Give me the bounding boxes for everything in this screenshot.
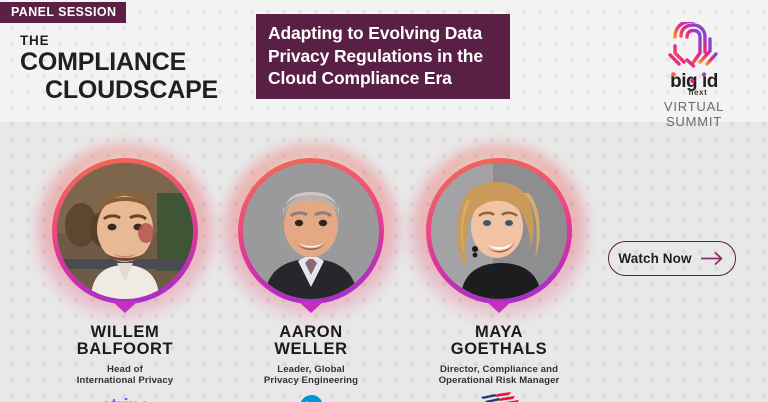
speaker-title-line-1: Director, Compliance and xyxy=(404,364,594,375)
bigid-caption: VIRTUAL SUMMIT xyxy=(634,99,754,129)
panel-session-badge: PANEL SESSION xyxy=(0,2,126,23)
speaker-name-line-1: MAYA xyxy=(404,324,594,341)
boa-flag-icon xyxy=(475,392,523,402)
speaker-company-logo: BANK OF AMERICA xyxy=(404,393,594,402)
stripe-logo: stripe xyxy=(101,397,149,402)
bigid-fingerprint-icon xyxy=(634,22,754,70)
bank-of-america-logo: BANK OF AMERICA xyxy=(472,392,527,402)
speaker-name-line-1: AARON xyxy=(216,324,406,341)
svg-text:next: next xyxy=(689,88,708,97)
speaker-name: AARON WELLER xyxy=(216,324,406,358)
speaker-title: Director, Compliance and Operational Ris… xyxy=(404,364,594,386)
bigid-wordmark: big id next xyxy=(634,71,754,97)
speaker-title: Leader, Global Privacy Engineering xyxy=(216,364,406,386)
speaker-avatar xyxy=(426,158,572,304)
series-title-lockup: THE COMPLIANCE CLOUDSCAPE xyxy=(20,33,218,105)
speaker-company-logo: stripe xyxy=(30,393,220,402)
lockup-line-1: COMPLIANCE xyxy=(20,48,218,76)
speaker-avatar xyxy=(238,158,384,304)
speaker-name: MAYA GOETHALS xyxy=(404,324,594,358)
lockup-line-2: CLOUDSCAPE xyxy=(45,76,218,105)
speaker-title-line-2: Operational Risk Manager xyxy=(404,375,594,386)
session-headline: Adapting to Evolving Data Privacy Regula… xyxy=(256,14,510,99)
speaker-title-line-2: International Privacy xyxy=(30,375,220,386)
avatar-pointer xyxy=(112,301,138,313)
speaker-photo xyxy=(57,163,193,299)
speaker-title-line-2: Privacy Engineering xyxy=(216,375,406,386)
bigid-logo: big id next VIRTUAL SUMMIT xyxy=(634,22,754,129)
hp-logo: hp xyxy=(300,395,323,402)
watch-now-label: Watch Now xyxy=(618,251,691,266)
watch-now-button[interactable]: Watch Now xyxy=(608,241,736,276)
speaker-card: AARON WELLER Leader, Global Privacy Engi… xyxy=(216,142,406,402)
speaker-card: WILLEM BALFOORT Head of International Pr… xyxy=(30,142,220,402)
speaker-title-line-1: Leader, Global xyxy=(216,364,406,375)
speaker-name-line-1: WILLEM xyxy=(30,324,220,341)
speaker-title-line-1: Head of xyxy=(30,364,220,375)
lockup-eyebrow: THE xyxy=(20,33,218,48)
speaker-avatar xyxy=(52,158,198,304)
avatar-pointer xyxy=(486,301,512,313)
speaker-name-line-2: WELLER xyxy=(216,341,406,358)
avatar-pointer xyxy=(298,301,324,313)
speaker-card: MAYA GOETHALS Director, Compliance and O… xyxy=(404,142,594,402)
speaker-photo xyxy=(243,163,379,299)
speaker-name-line-2: GOETHALS xyxy=(404,341,594,358)
speaker-photo xyxy=(431,163,567,299)
arrow-right-icon xyxy=(700,252,726,265)
promo-banner: PANEL SESSION THE COMPLIANCE CLOUDSCAPE … xyxy=(0,0,768,402)
speaker-name-line-2: BALFOORT xyxy=(30,341,220,358)
speaker-company-logo: hp xyxy=(216,393,406,402)
speaker-name: WILLEM BALFOORT xyxy=(30,324,220,358)
speaker-title: Head of International Privacy xyxy=(30,364,220,386)
